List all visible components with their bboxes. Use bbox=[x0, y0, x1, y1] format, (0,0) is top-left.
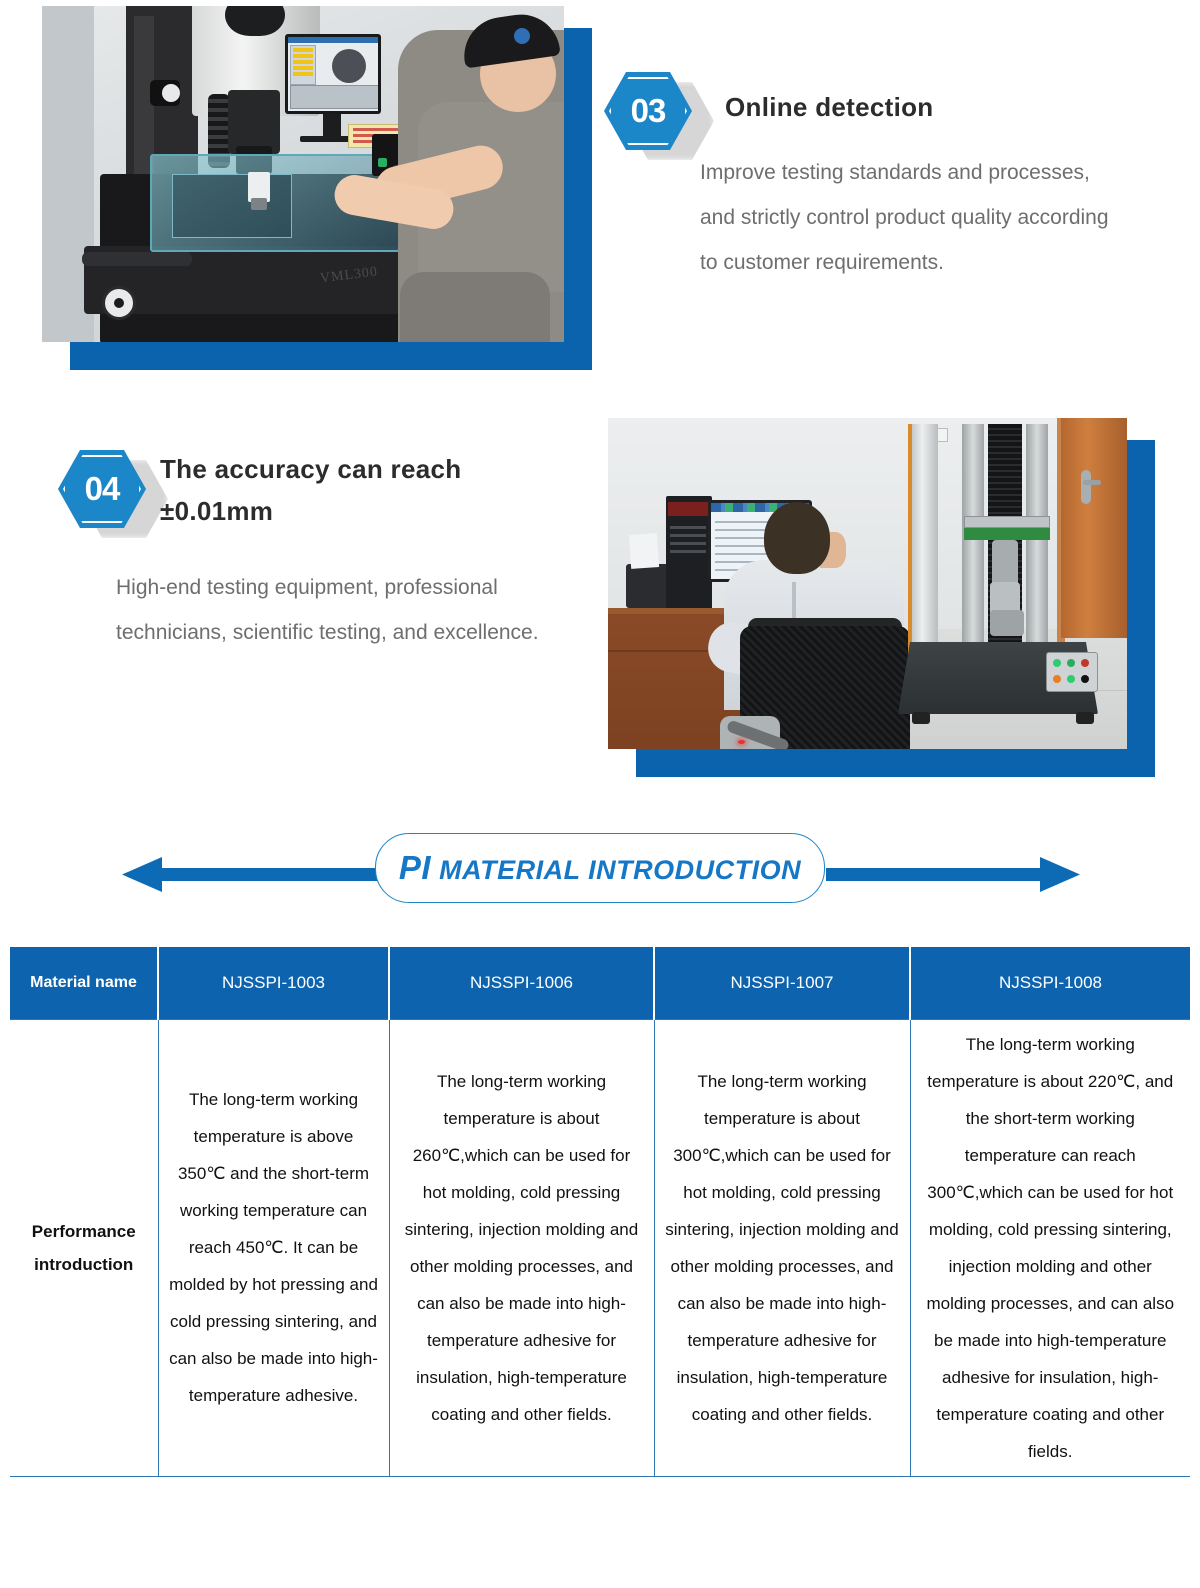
material-table: Material name NJSSPI-1003 NJSSPI-1006 NJ… bbox=[10, 947, 1190, 1477]
badge-03: 03 bbox=[604, 72, 692, 150]
illustration-testing-lab bbox=[608, 418, 1127, 749]
banner-title-rest: MATERIAL INTRODUCTION bbox=[431, 855, 801, 885]
cell-njsspi-1008: The long-term working temperature is abo… bbox=[910, 1019, 1190, 1476]
section-banner: PI MATERIAL INTRODUCTION bbox=[0, 812, 1200, 922]
badge-04: 04 bbox=[58, 450, 146, 528]
banner-bar-right bbox=[826, 868, 1048, 881]
section-title-online-detection: Online detection bbox=[725, 86, 1155, 128]
banner-bar-left bbox=[160, 868, 382, 881]
header-material-name: Material name bbox=[10, 947, 158, 1019]
section-body-accuracy: High-end testing equipment, professional… bbox=[116, 565, 586, 655]
table-header-row: Material name NJSSPI-1003 NJSSPI-1006 NJ… bbox=[10, 947, 1190, 1019]
table-row: Performance introduction The long-term w… bbox=[10, 1019, 1190, 1476]
header-njsspi-1003: NJSSPI-1003 bbox=[158, 947, 389, 1019]
banner-title-lead: PI bbox=[399, 849, 431, 886]
universal-testing-machine bbox=[908, 424, 1068, 724]
banner-title: PI MATERIAL INTRODUCTION bbox=[399, 849, 801, 887]
measuring-software-monitor bbox=[285, 34, 381, 114]
photo-tensile-testing-lab bbox=[608, 418, 1127, 749]
cell-njsspi-1003: The long-term working temperature is abo… bbox=[158, 1019, 389, 1476]
photo-optical-measuring-machine: VML300 bbox=[42, 6, 564, 342]
page-root: VML300 03 Online detection Improve testi… bbox=[0, 0, 1200, 1588]
arrow-left-icon bbox=[122, 857, 162, 892]
header-njsspi-1007: NJSSPI-1007 bbox=[654, 947, 910, 1019]
table-body: Performance introduction The long-term w… bbox=[10, 1019, 1190, 1476]
row-label-performance-introduction: Performance introduction bbox=[10, 1019, 158, 1476]
header-njsspi-1006: NJSSPI-1006 bbox=[389, 947, 654, 1019]
illustration-optical-lab: VML300 bbox=[42, 6, 564, 342]
header-njsspi-1008: NJSSPI-1008 bbox=[910, 947, 1190, 1019]
arrow-right-icon bbox=[1040, 857, 1080, 892]
material-table-wrapper: Material name NJSSPI-1003 NJSSPI-1006 NJ… bbox=[10, 947, 1190, 1477]
cell-njsspi-1007: The long-term working temperature is abo… bbox=[654, 1019, 910, 1476]
banner-pill: PI MATERIAL INTRODUCTION bbox=[375, 833, 825, 903]
section-body-online-detection: Improve testing standards and processes,… bbox=[700, 150, 1130, 285]
photo-block-accuracy bbox=[608, 418, 1141, 763]
section-title-accuracy: The accuracy can reach ±0.01mm bbox=[160, 448, 560, 532]
table-head: Material name NJSSPI-1003 NJSSPI-1006 NJ… bbox=[10, 947, 1190, 1019]
cell-njsspi-1006: The long-term working temperature is abo… bbox=[389, 1019, 654, 1476]
badge-number: 03 bbox=[631, 92, 666, 130]
photo-block-online-detection: VML300 bbox=[42, 6, 578, 356]
badge-number: 04 bbox=[85, 470, 120, 508]
machine-control-panel bbox=[1046, 652, 1098, 692]
